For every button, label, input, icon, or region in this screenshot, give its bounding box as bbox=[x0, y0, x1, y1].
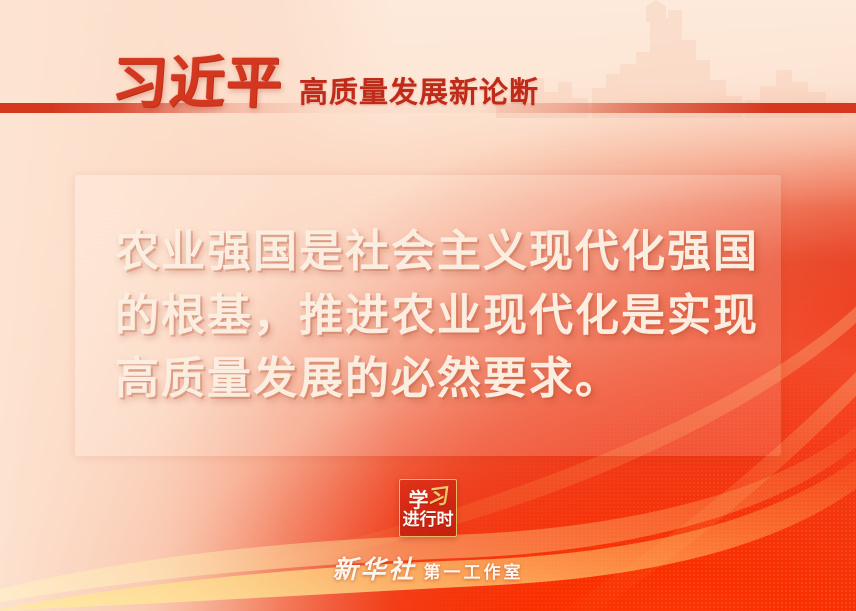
logo-bottom-row: 进行时 bbox=[403, 512, 454, 529]
page-title: 习近平 bbox=[111, 56, 285, 112]
credit-agency: 新华社 bbox=[332, 550, 416, 586]
poster-header: 习近平 高质量发展新论断 bbox=[0, 0, 856, 150]
logo-char-xi: 习 bbox=[425, 485, 449, 509]
credit-line: 新华社 第一工作室 bbox=[332, 550, 523, 586]
page-subtitle: 高质量发展新论断 bbox=[299, 78, 539, 112]
header-title-group: 习近平 高质量发展新论断 bbox=[112, 56, 539, 112]
credit-studio: 第一工作室 bbox=[424, 558, 524, 583]
logo-top-row: 学 习 bbox=[409, 488, 448, 512]
poster-root: 习近平 高质量发展新论断 农业强国是社会主义现代化强国 的根基，推进农业现代化是… bbox=[0, 0, 856, 611]
poster-footer: 学 习 进行时 新华社 第一工作室 bbox=[0, 471, 856, 611]
brand-logo-xuexi-jinxingshi[interactable]: 学 习 进行时 bbox=[399, 479, 457, 537]
